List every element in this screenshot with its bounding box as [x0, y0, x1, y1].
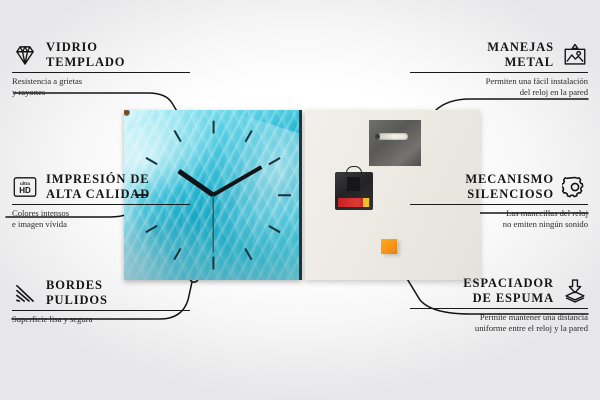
feature-description: Las manecillas del reloj no emiten ningú…: [410, 208, 588, 230]
feature-vidrio-templado: VIDRIO TEMPLADO Resistencia a grietas y …: [12, 40, 190, 98]
feature-espaciador-espuma: ESPACIADOR DE ESPUMA Permite mantener un…: [410, 276, 588, 334]
clock-hour-marker: [212, 120, 214, 133]
svg-text:HD: HD: [19, 186, 31, 195]
mechanism-body: [347, 177, 360, 191]
feature-divider: [12, 72, 190, 73]
feature-header: MANEJAS METAL: [410, 40, 588, 69]
feature-header: BORDES PULIDOS: [12, 278, 190, 307]
hanger-hole: [375, 134, 380, 139]
feature-impresion-alta-calidad: ultra HD IMPRESIÓN DE ALTA CALIDAD Color…: [12, 172, 190, 230]
feature-divider: [410, 204, 588, 205]
feature-bordes-pulidos: BORDES PULIDOS Superficie lisa y segura: [12, 278, 190, 325]
feature-header: ultra HD IMPRESIÓN DE ALTA CALIDAD: [12, 172, 190, 201]
feature-title: MECANISMO SILENCIOSO: [465, 172, 554, 201]
clock-hour-marker: [278, 194, 291, 196]
hanging-frame-icon: [562, 42, 588, 68]
battery-terminal: [363, 198, 369, 207]
foam-spacer-part: [381, 239, 397, 254]
feature-manejas-metal: MANEJAS METAL Permiten una fácil instala…: [410, 40, 588, 98]
feature-divider: [12, 204, 190, 205]
feature-divider: [410, 72, 588, 73]
feature-divider: [410, 308, 588, 309]
feature-description: Colores intensos e imagen vívida: [12, 208, 190, 230]
feature-divider: [12, 310, 190, 311]
feature-description: Superficie lisa y segura: [12, 314, 190, 325]
feature-title: ESPACIADOR DE ESPUMA: [463, 276, 554, 305]
feature-title: BORDES PULIDOS: [46, 278, 108, 307]
feature-title: VIDRIO TEMPLADO: [46, 40, 125, 69]
clock-second-hand: [212, 195, 213, 253]
feature-description: Permite mantener una distancia uniforme …: [410, 312, 588, 334]
feature-description: Permiten una fácil instalación del reloj…: [410, 76, 588, 98]
clock-center-hub: [124, 110, 129, 115]
battery-compartment: [338, 198, 370, 207]
infographic-canvas: VIDRIO TEMPLADO Resistencia a grietas y …: [0, 0, 600, 400]
feature-mecanismo-silencioso: MECANISMO SILENCIOSO Las manecillas del …: [410, 172, 588, 230]
ultra-hd-icon: ultra HD: [12, 174, 38, 200]
feature-header: ESPACIADOR DE ESPUMA: [410, 276, 588, 305]
feature-title: IMPRESIÓN DE ALTA CALIDAD: [46, 172, 150, 201]
hanger-slot: [378, 133, 408, 140]
diamond-icon: [12, 42, 38, 68]
metal-hanger-part: [369, 120, 421, 166]
feature-description: Resistencia a grietas y rayones: [12, 76, 190, 98]
clock-hour-marker: [212, 256, 214, 269]
feature-header: MECANISMO SILENCIOSO: [410, 172, 588, 201]
polished-edges-icon: [12, 280, 38, 306]
clock-mechanism-part: [335, 172, 373, 210]
mechanism-loop: [346, 166, 362, 175]
feature-header: VIDRIO TEMPLADO: [12, 40, 190, 69]
feature-title: MANEJAS METAL: [487, 40, 554, 69]
foam-spacer-icon: [562, 278, 588, 304]
gear-icon: [562, 174, 588, 200]
